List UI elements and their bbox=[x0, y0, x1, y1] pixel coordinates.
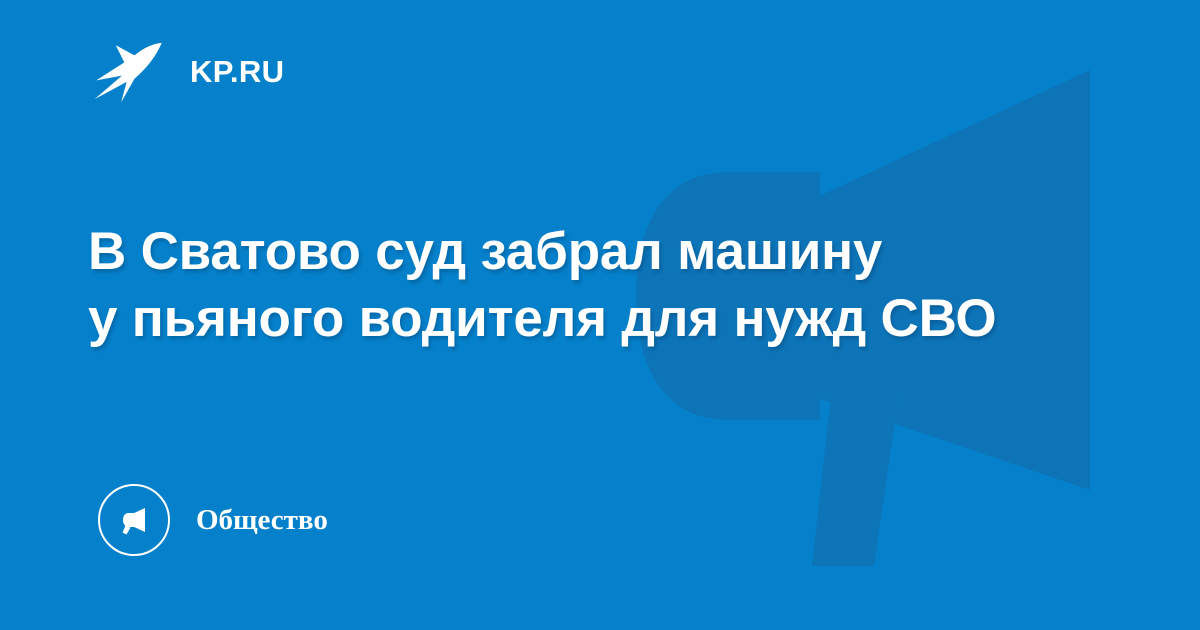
brand-name-text: KP.RU bbox=[190, 56, 284, 87]
article-share-card: KP.RU В Сватово суд забрал машину у пьян… bbox=[0, 0, 1200, 630]
headline: В Сватово суд забрал машину у пьяного во… bbox=[88, 218, 1098, 353]
category-badge[interactable]: Общество bbox=[98, 484, 328, 556]
category-label: Общество bbox=[196, 506, 328, 535]
swallow-bird-icon bbox=[90, 32, 168, 110]
brand-logo[interactable]: KP.RU bbox=[90, 32, 284, 110]
headline-line-1: В Сватово суд забрал машину bbox=[88, 218, 1098, 285]
headline-line-2: у пьяного водителя для нужд СВО bbox=[88, 285, 1098, 352]
megaphone-icon bbox=[98, 484, 170, 556]
